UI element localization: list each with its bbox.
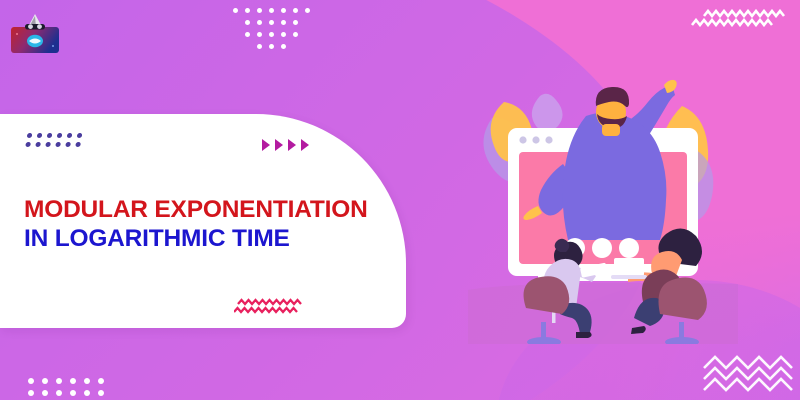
zigzag-white-top-right (688, 8, 794, 34)
title-line-2: IN LOGARITHMIC TIME (24, 225, 394, 254)
page-title: MODULAR EXPONENTIATION IN LOGARITHMIC TI… (24, 196, 394, 254)
chevron-right-icon (262, 139, 270, 151)
dot-grid-white-top (233, 8, 317, 56)
presentation-illustration (468, 76, 738, 344)
favtutor-logo[interactable] (9, 13, 61, 55)
zigzag-white-bottom-right (700, 352, 796, 396)
chevron-arrows (262, 139, 309, 151)
chevron-right-icon (301, 139, 309, 151)
dot-grid-indigo (25, 133, 88, 151)
chevron-right-icon (275, 139, 283, 151)
dot-grid-white-bottom (28, 378, 112, 400)
title-line-1: MODULAR EXPONENTIATION (24, 196, 394, 225)
chevron-right-icon (288, 139, 296, 151)
banner-root: MODULAR EXPONENTIATION IN LOGARITHMIC TI… (0, 0, 800, 400)
zigzag-pink (234, 298, 312, 318)
